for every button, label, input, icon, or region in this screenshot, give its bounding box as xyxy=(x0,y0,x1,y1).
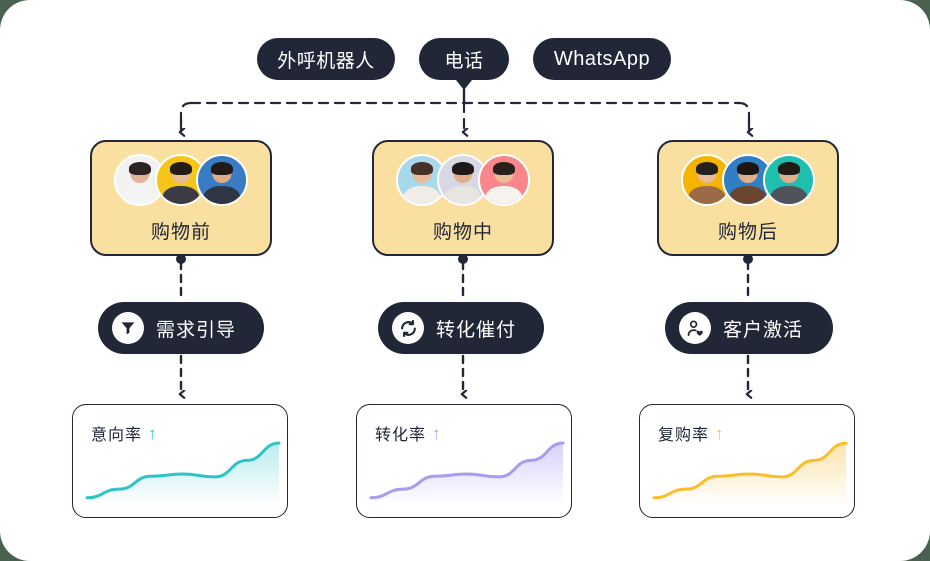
action-pill-customer-activation[interactable]: 客户激活 xyxy=(665,302,833,354)
trend-up-arrow-icon: ↑ xyxy=(432,425,442,442)
metric-card-conversion-rate[interactable]: 转化率 ↑ xyxy=(356,404,572,518)
avatar xyxy=(478,154,530,206)
metric-label: 转化率 xyxy=(375,421,426,445)
metric-label-group: 转化率 ↑ xyxy=(375,421,442,445)
funnel-icon xyxy=(112,312,144,344)
action-label: 转化催付 xyxy=(436,315,516,342)
action-pill-conversion-reminder[interactable]: 转化催付 xyxy=(378,302,544,354)
person-heart-icon xyxy=(679,312,711,344)
metric-card-repurchase-rate[interactable]: 复购率 ↑ xyxy=(639,404,855,518)
metric-label: 意向率 xyxy=(91,421,142,445)
action-label: 需求引导 xyxy=(156,315,236,342)
channel-pill-whatsapp[interactable]: WhatsApp xyxy=(533,38,671,80)
avatar-group xyxy=(681,153,815,207)
channel-label: WhatsApp xyxy=(554,48,650,71)
metric-label-group: 意向率 ↑ xyxy=(91,421,158,445)
avatar xyxy=(196,154,248,206)
refresh-icon xyxy=(392,312,424,344)
channel-label: 电话 xyxy=(444,46,483,73)
trend-up-arrow-icon: ↑ xyxy=(148,425,158,442)
channel-pill-outbound-robot[interactable]: 外呼机器人 xyxy=(257,38,395,80)
metric-label-group: 复购率 ↑ xyxy=(658,421,725,445)
metric-card-intent-rate[interactable]: 意向率 ↑ xyxy=(72,404,288,518)
stage-card-pre-purchase[interactable]: 购物前 xyxy=(90,140,272,256)
action-pill-demand-guidance[interactable]: 需求引导 xyxy=(98,302,264,354)
stage-label: 购物后 xyxy=(718,217,778,244)
metric-label: 复购率 xyxy=(658,421,709,445)
channel-label: 外呼机器人 xyxy=(277,46,375,73)
avatar-group xyxy=(114,153,248,207)
avatar xyxy=(763,154,815,206)
stage-label: 购物前 xyxy=(151,217,211,244)
stage-label: 购物中 xyxy=(433,217,493,244)
stage-card-in-purchase[interactable]: 购物中 xyxy=(372,140,554,256)
stage-card-post-purchase[interactable]: 购物后 xyxy=(657,140,839,256)
diagram-canvas: 外呼机器人 电话 WhatsApp 购物前 xyxy=(0,0,930,561)
channel-pill-phone[interactable]: 电话 xyxy=(419,38,509,80)
trend-up-arrow-icon: ↑ xyxy=(715,425,725,442)
avatar-group xyxy=(396,153,530,207)
action-label: 客户激活 xyxy=(723,315,803,342)
